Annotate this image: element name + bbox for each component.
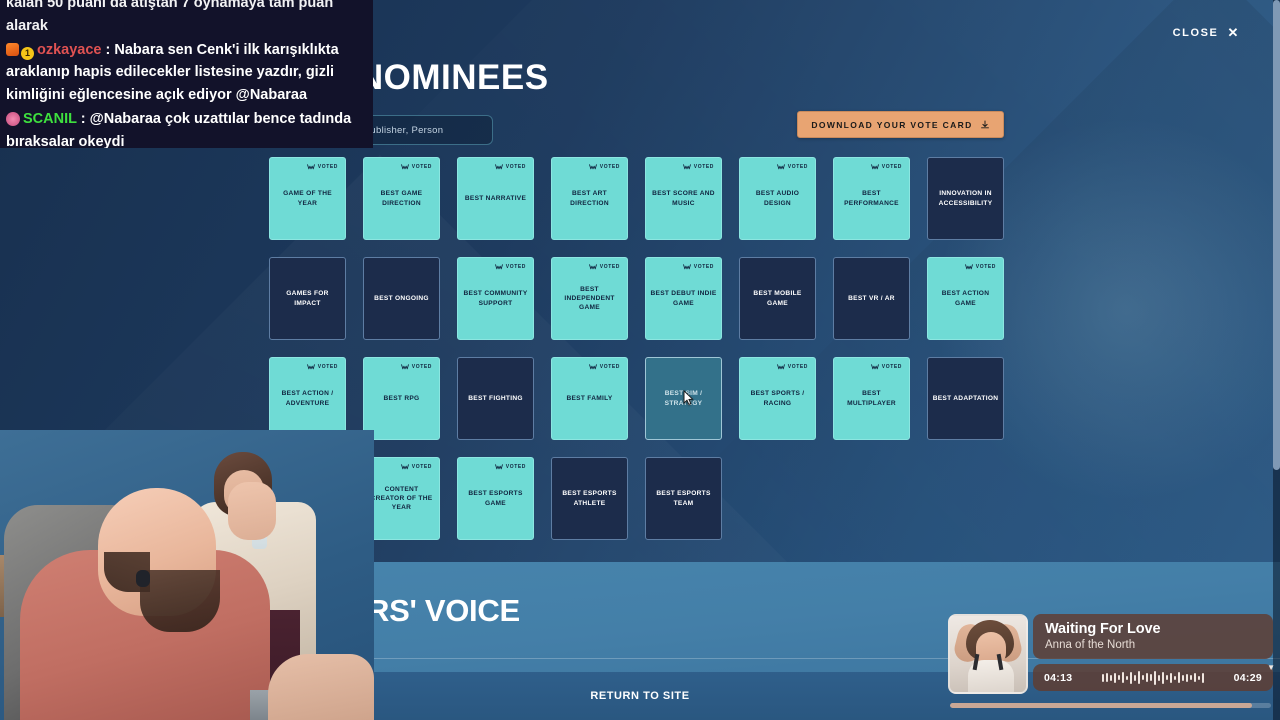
category-tile[interactable]: VOTEDBEST SCORE AND MUSIC bbox=[645, 157, 722, 240]
category-tile-label: BEST ART DIRECTION bbox=[556, 189, 623, 207]
voted-badge-label: VOTED bbox=[694, 264, 714, 270]
waveform-bar bbox=[1134, 675, 1136, 681]
voted-badge-label: VOTED bbox=[506, 464, 526, 470]
voted-badge: VOTED bbox=[683, 264, 714, 270]
voted-badge-label: VOTED bbox=[318, 364, 338, 370]
voted-badge-label: VOTED bbox=[506, 164, 526, 170]
music-track-meta: Waiting For Love Anna of the North bbox=[1033, 614, 1273, 659]
category-tile[interactable]: BEST ESPORTS TEAM bbox=[645, 457, 722, 540]
waveform-bar bbox=[1174, 676, 1176, 680]
webcam-earbud bbox=[136, 570, 150, 587]
waveform-bar bbox=[1190, 675, 1192, 680]
webcam-person-background-arm bbox=[228, 482, 276, 540]
category-tile[interactable]: BEST ONGOING bbox=[363, 257, 440, 340]
waveform-bar bbox=[1202, 673, 1204, 683]
category-tile-label: BEST ESPORTS TEAM bbox=[650, 489, 717, 507]
category-tile[interactable]: VOTEDBEST AUDIO DESIGN bbox=[739, 157, 816, 240]
waveform-bar bbox=[1138, 671, 1140, 684]
orange-badge-icon bbox=[6, 43, 19, 56]
category-tile-label: BEST ESPORTS ATHLETE bbox=[556, 489, 623, 507]
chat-username[interactable]: SCANIL bbox=[23, 111, 77, 127]
webcam-streamer-beard bbox=[140, 570, 220, 632]
category-tile-label: INNOVATION IN ACCESSIBILITY bbox=[932, 189, 999, 207]
voted-badge-label: VOTED bbox=[318, 164, 338, 170]
category-tile[interactable]: VOTEDBEST PERFORMANCE bbox=[833, 157, 910, 240]
category-tile[interactable]: VOTEDBEST INDEPENDENT GAME bbox=[551, 257, 628, 340]
category-tile[interactable]: VOTEDBEST ACTION GAME bbox=[927, 257, 1004, 340]
voted-badge: VOTED bbox=[777, 364, 808, 370]
category-tile[interactable]: BEST FIGHTING bbox=[457, 357, 534, 440]
music-player-widget[interactable]: Waiting For Love Anna of the North 04:13… bbox=[948, 614, 1273, 710]
voted-badge-label: VOTED bbox=[600, 164, 620, 170]
category-tile-label: BEST SCORE AND MUSIC bbox=[650, 189, 717, 207]
chevron-down-icon[interactable]: ▼ bbox=[1267, 663, 1275, 672]
waveform-bar bbox=[1162, 672, 1164, 684]
category-tile-label: BEST ADAPTATION bbox=[933, 394, 999, 403]
category-tile[interactable]: VOTEDCONTENT CREATOR OF THE YEAR bbox=[363, 457, 440, 540]
voted-badge: VOTED bbox=[589, 264, 620, 270]
category-tile[interactable]: VOTEDGAME OF THE YEAR bbox=[269, 157, 346, 240]
waveform-bar bbox=[1170, 673, 1172, 683]
voted-badge: VOTED bbox=[589, 364, 620, 370]
category-tile-label: BEST FAMILY bbox=[566, 394, 612, 403]
music-seek-fill bbox=[950, 703, 1252, 708]
voted-badge: VOTED bbox=[495, 464, 526, 470]
category-tile-label: BEST INDEPENDENT GAME bbox=[556, 285, 623, 312]
voted-badge: VOTED bbox=[965, 264, 996, 270]
download-vote-card-button[interactable]: DOWNLOAD YOUR VOTE CARD bbox=[797, 111, 1004, 138]
waveform-visualizer bbox=[1102, 670, 1204, 685]
voted-badge: VOTED bbox=[683, 164, 714, 170]
chat-message: 1ozkayace : Nabara sen Cenk'i ilk karışı… bbox=[6, 39, 367, 107]
close-x-icon: ✕ bbox=[1228, 26, 1241, 39]
download-vote-card-label: DOWNLOAD YOUR VOTE CARD bbox=[811, 120, 972, 130]
category-tile-label: BEST SIM / STRATEGY bbox=[650, 389, 717, 407]
voted-badge-label: VOTED bbox=[882, 164, 902, 170]
category-tile-label: BEST PERFORMANCE bbox=[838, 189, 905, 207]
voted-badge: VOTED bbox=[495, 164, 526, 170]
music-progress-row[interactable]: 04:13 04:29 bbox=[1033, 664, 1273, 691]
waveform-bar bbox=[1118, 675, 1120, 680]
scrollbar-thumb[interactable] bbox=[1273, 0, 1280, 470]
waveform-bar bbox=[1154, 671, 1156, 685]
voted-badge: VOTED bbox=[495, 264, 526, 270]
waveform-bar bbox=[1122, 672, 1124, 683]
category-tile-label: BEST ONGOING bbox=[374, 294, 429, 303]
category-tile-label: BEST GAME DIRECTION bbox=[368, 189, 435, 207]
voting-page: CLOSE ✕ 2025 NOMINEES Search Game, Publi… bbox=[0, 0, 1280, 720]
category-tile[interactable]: VOTEDBEST RPG bbox=[363, 357, 440, 440]
duration-time: 04:29 bbox=[1234, 672, 1262, 684]
voted-badge-label: VOTED bbox=[600, 364, 620, 370]
voted-badge-label: VOTED bbox=[976, 264, 996, 270]
voted-badge-label: VOTED bbox=[788, 364, 808, 370]
pink-emote-icon bbox=[6, 112, 20, 126]
category-tile[interactable]: BEST MOBILE GAME bbox=[739, 257, 816, 340]
track-artist: Anna of the North bbox=[1045, 639, 1261, 651]
category-tile[interactable]: VOTEDBEST ART DIRECTION bbox=[551, 157, 628, 240]
waveform-bar bbox=[1130, 672, 1132, 684]
category-tile[interactable]: VOTEDBEST GAME DIRECTION bbox=[363, 157, 440, 240]
album-artwork bbox=[948, 614, 1028, 694]
waveform-bar bbox=[1182, 675, 1184, 681]
webcam-streamer-hand bbox=[268, 654, 374, 720]
voted-badge-label: VOTED bbox=[412, 464, 432, 470]
track-title: Waiting For Love bbox=[1045, 621, 1261, 637]
category-tile-label: BEST VR / AR bbox=[848, 294, 895, 303]
category-tile[interactable]: BEST ADAPTATION bbox=[927, 357, 1004, 440]
chat-message: kalan 50 puanı da atıştan 7 oynamaya tam… bbox=[6, 0, 367, 38]
music-player-details: Waiting For Love Anna of the North 04:13… bbox=[1033, 614, 1273, 691]
category-tile-label: GAMES FOR IMPACT bbox=[274, 289, 341, 307]
close-button[interactable]: CLOSE ✕ bbox=[1173, 26, 1240, 39]
waveform-bar bbox=[1178, 672, 1180, 683]
category-tile[interactable]: VOTEDBEST MULTIPLAYER bbox=[833, 357, 910, 440]
waveform-bar bbox=[1194, 673, 1196, 682]
voted-badge: VOTED bbox=[871, 364, 902, 370]
waveform-bar bbox=[1114, 673, 1116, 683]
category-tile[interactable]: INNOVATION IN ACCESSIBILITY bbox=[927, 157, 1004, 240]
voted-badge: VOTED bbox=[401, 164, 432, 170]
waveform-bar bbox=[1198, 676, 1200, 680]
category-tile[interactable]: BEST ESPORTS ATHLETE bbox=[551, 457, 628, 540]
voted-badge-label: VOTED bbox=[412, 164, 432, 170]
category-tile[interactable]: VOTEDBEST FAMILY bbox=[551, 357, 628, 440]
chat-message: SCANIL : @Nabaraa çok uzattılar bence ta… bbox=[6, 108, 367, 148]
return-to-site-link[interactable]: RETURN TO SITE bbox=[590, 690, 689, 702]
voted-badge: VOTED bbox=[401, 464, 432, 470]
waveform-bar bbox=[1150, 674, 1152, 681]
voted-badge-label: VOTED bbox=[506, 264, 526, 270]
voted-badge: VOTED bbox=[307, 164, 338, 170]
page-scrollbar[interactable] bbox=[1273, 0, 1280, 720]
voted-badge-label: VOTED bbox=[600, 264, 620, 270]
chat-message-text: kalan 50 puanı da atıştan 7 oynamaya tam… bbox=[6, 0, 333, 34]
category-tile-label: BEST ESPORTS GAME bbox=[462, 489, 529, 507]
category-tile-label: BEST MOBILE GAME bbox=[744, 289, 811, 307]
category-tile-label: BEST DEBUT INDIE GAME bbox=[650, 289, 717, 307]
category-tile-label: GAME OF THE YEAR bbox=[274, 189, 341, 207]
gold-circle-badge-icon: 1 bbox=[21, 47, 34, 60]
category-tile[interactable]: VOTEDBEST ACTION / ADVENTURE bbox=[269, 357, 346, 440]
voted-badge: VOTED bbox=[401, 364, 432, 370]
chat-username[interactable]: ozkayace bbox=[37, 42, 102, 58]
category-tile-label: BEST SPORTS / RACING bbox=[744, 389, 811, 407]
waveform-bar bbox=[1186, 674, 1188, 682]
category-tile[interactable]: BEST SIM / STRATEGY bbox=[645, 357, 722, 440]
voted-badge: VOTED bbox=[589, 164, 620, 170]
voted-badge-label: VOTED bbox=[412, 364, 432, 370]
voted-badge-label: VOTED bbox=[788, 164, 808, 170]
streamer-webcam bbox=[0, 430, 374, 720]
category-tile[interactable]: BEST VR / AR bbox=[833, 257, 910, 340]
voted-badge: VOTED bbox=[871, 164, 902, 170]
category-tile-label: BEST NARRATIVE bbox=[465, 194, 526, 203]
category-tile[interactable]: VOTEDBEST DEBUT INDIE GAME bbox=[645, 257, 722, 340]
category-tile-label: BEST RPG bbox=[384, 394, 420, 403]
waveform-bar bbox=[1106, 673, 1108, 682]
category-tile-label: BEST MULTIPLAYER bbox=[838, 389, 905, 407]
category-tile-label: BEST ACTION / ADVENTURE bbox=[274, 389, 341, 407]
voted-badge-label: VOTED bbox=[882, 364, 902, 370]
stream-chat-overlay: kalan 50 puanı da atıştan 7 oynamaya tam… bbox=[0, 0, 373, 148]
category-tile-label: BEST AUDIO DESIGN bbox=[744, 189, 811, 207]
category-tile-label: BEST ACTION GAME bbox=[932, 289, 999, 307]
category-tile[interactable]: VOTEDBEST SPORTS / RACING bbox=[739, 357, 816, 440]
waveform-bar bbox=[1126, 676, 1128, 680]
music-seek-bar[interactable] bbox=[950, 703, 1271, 708]
elapsed-time: 04:13 bbox=[1044, 672, 1072, 684]
download-icon bbox=[980, 120, 990, 130]
category-tile[interactable]: VOTEDBEST NARRATIVE bbox=[457, 157, 534, 240]
category-tile[interactable]: GAMES FOR IMPACT bbox=[269, 257, 346, 340]
category-tile-label: CONTENT CREATOR OF THE YEAR bbox=[368, 485, 435, 512]
voted-badge: VOTED bbox=[777, 164, 808, 170]
waveform-bar bbox=[1166, 675, 1168, 680]
waveform-bar bbox=[1142, 675, 1144, 680]
waveform-bar bbox=[1110, 675, 1112, 681]
category-tile-label: BEST COMMUNITY SUPPORT bbox=[462, 289, 529, 307]
category-tile[interactable]: VOTEDBEST ESPORTS GAME bbox=[457, 457, 534, 540]
title-main: NOMINEES bbox=[358, 60, 549, 95]
waveform-bar bbox=[1102, 674, 1104, 682]
voted-badge-label: VOTED bbox=[694, 164, 714, 170]
voted-badge: VOTED bbox=[307, 364, 338, 370]
close-label: CLOSE bbox=[1173, 27, 1219, 39]
waveform-bar bbox=[1158, 675, 1160, 681]
waveform-bar bbox=[1146, 673, 1148, 682]
category-tile[interactable]: VOTEDBEST COMMUNITY SUPPORT bbox=[457, 257, 534, 340]
category-tile-label: BEST FIGHTING bbox=[468, 394, 523, 403]
category-grid: VOTEDGAME OF THE YEARVOTEDBEST GAME DIRE… bbox=[269, 157, 1004, 540]
